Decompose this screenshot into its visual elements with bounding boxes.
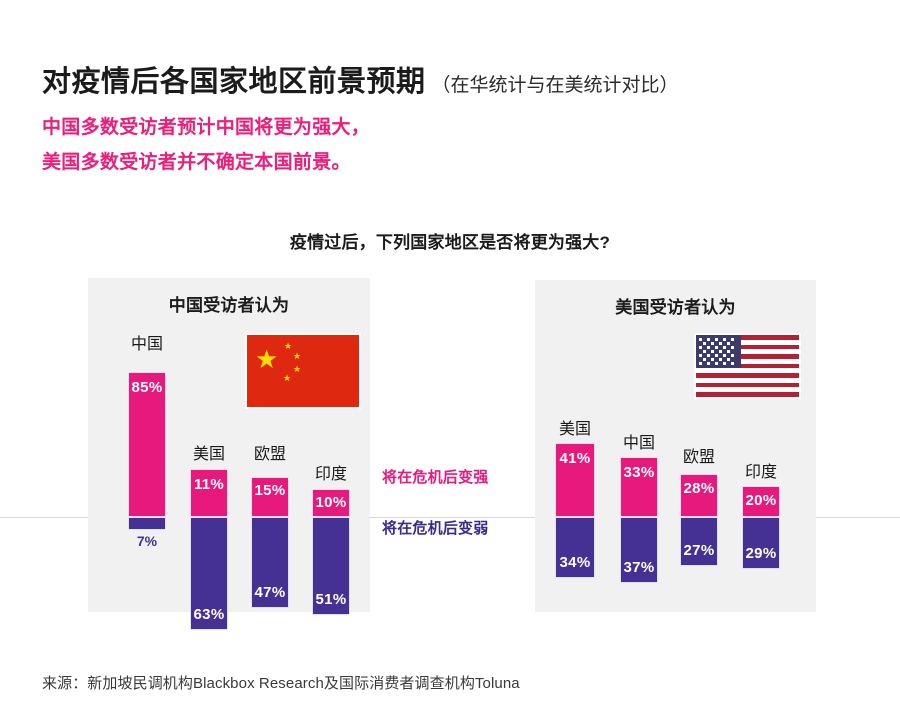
bar-segment-stronger: 10% [312,489,350,517]
bar-value-stronger: 20% [743,492,779,509]
bar-group-left-india: 印度 10% 51% [312,460,350,620]
china-flag-star-big: ★ [255,346,278,372]
subtitle-line-2: 美国多数受访者并不确定本国前景。 [42,147,872,174]
page-title: 对疫情后各国家地区前景预期 [42,58,426,100]
bar-segment-weaker: 27% [680,517,718,566]
subtitle-line-1: 中国多数受访者预计中国将更为强大， [42,112,872,139]
source-note: 来源：新加坡民调机构Blackbox Research及国际消费者调查机构Tol… [42,672,520,693]
china-flag-icon: ★ ★ ★ ★ ★ [245,333,361,409]
chart-question: 疫情过后，下列国家地区是否将更为强大? [0,228,900,253]
bar-segment-weaker: 63% [190,517,228,630]
bar-label: 印度 [276,460,386,484]
usa-flag-icon [694,333,801,399]
bar-value-weaker: 29% [743,545,779,562]
title-row: 对疫情后各国家地区前景预期 （在华统计与在美统计对比） [42,58,872,100]
infographic-page: 对疫情后各国家地区前景预期 （在华统计与在美统计对比） 中国多数受访者预计中国将… [0,0,900,719]
bar-segment-stronger: 20% [742,486,780,517]
china-flag-star-4: ★ [283,374,291,383]
bar-segment-stronger: 41% [555,443,595,517]
panel-left-title: 中国受访者认为 [88,291,370,316]
bar-value-weaker: 34% [556,554,594,571]
bar-value-weaker: 63% [191,606,227,623]
bar-value-stronger: 15% [252,482,288,499]
bar-label: 印度 [706,458,816,482]
china-flag-star-1: ★ [284,342,292,351]
china-flag-star-2: ★ [293,352,301,361]
bar-value-weaker: 27% [681,542,717,559]
bar-segment-weaker: 34% [555,517,595,578]
china-flag-star-3: ★ [293,365,301,374]
bar-value-stronger: 85% [129,379,165,396]
panel-right-title: 美国受访者认为 [535,293,816,318]
header: 对疫情后各国家地区前景预期 （在华统计与在美统计对比） 中国多数受访者预计中国将… [42,58,872,174]
bar-value-stronger: 11% [191,476,227,493]
bar-value-weaker: 47% [252,584,288,601]
legend: 将在危机后变强 将在危机后变弱 [382,466,542,538]
bar-value-stronger: 28% [681,480,717,497]
legend-item-weaker: 将在危机后变弱 [382,517,542,538]
bar-group-left-usa: 美国 11% 63% [190,440,228,620]
legend-item-stronger: 将在危机后变强 [382,466,542,487]
bar-value-weaker: 37% [621,559,657,576]
bar-segment-stronger: 11% [190,469,228,517]
bar-segment-weaker: 37% [620,517,658,583]
bar-segment-weaker: 47% [251,517,289,608]
bar-segment-weaker [128,517,166,530]
bar-value-weaker: 51% [313,591,349,608]
bar-label: 中国 [92,330,202,354]
title-note: （在华统计与在美统计对比） [432,70,679,97]
bar-segment-weaker: 51% [312,517,350,615]
bar-segment-weaker: 29% [742,517,780,569]
usa-flag-canton [696,335,741,368]
bar-value-weaker: 7% [128,533,166,549]
bar-value-stronger: 10% [313,494,349,511]
bar-group-right-india: 印度 20% 29% [742,458,780,628]
